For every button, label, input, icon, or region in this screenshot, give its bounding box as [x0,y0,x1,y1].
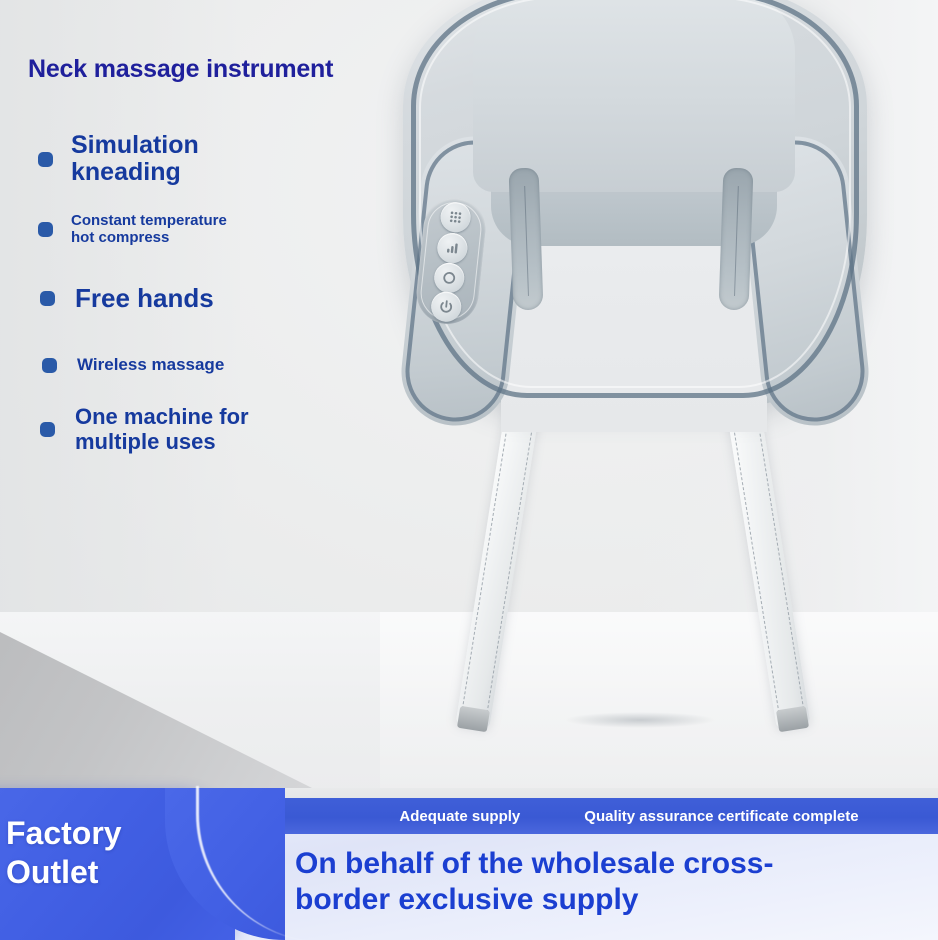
bullet-icon [40,422,55,437]
feature-item-wireless-massage: Wireless massage [42,355,224,375]
strap-stitching [461,404,511,714]
banner-headline-line-2: border exclusive supply [295,883,638,916]
product-banner-stage: Neck massage instrument Simulation knead… [0,0,938,940]
feature-line-2: multiple uses [75,429,216,454]
feature-line-1: Simulation [71,131,199,159]
tagline-adequate-supply: Adequate supply [399,808,520,825]
signal-bars-icon [444,239,462,257]
factory-outlet-label: Factory Outlet [6,814,122,892]
feature-label: Free hands [75,283,214,314]
banner-headline-line-1: On behalf of the wholesale cross- [295,847,773,880]
badge-line-1: Factory [6,815,122,851]
feature-label: Simulation kneading [71,132,199,186]
tagline-quality-assurance: Quality assurance certificate complete [584,808,858,825]
feature-item-hot-compress: Constant temperature hot compress [38,212,227,247]
feature-label: One machine for multiple uses [75,404,249,454]
strap-stitching [486,408,536,718]
page-title: Neck massage instrument [28,55,333,84]
feature-label: Constant temperature hot compress [71,212,227,247]
bottom-promo-banner: Adequate supply Quality assurance certif… [0,788,938,940]
bullet-icon [42,358,57,373]
feature-line-1: One machine for [75,404,249,429]
dots-grid-icon [447,208,465,226]
marketing-copy-column: Neck massage instrument Simulation knead… [0,0,430,520]
massager-inner-piping [419,0,851,388]
massager-strap-left [456,397,541,728]
bullet-icon [38,152,53,167]
strap-stitching [730,408,780,718]
strap-end-tip [457,706,490,732]
circle-mode-icon [440,269,458,287]
feature-line-1: Constant temperature [71,212,227,229]
bullet-icon [40,291,55,306]
feature-line-2: hot compress [71,229,169,246]
power-icon [437,298,455,316]
product-image-neck-massager [395,0,875,746]
massager-strap-right [725,397,810,728]
feature-label: Wireless massage [77,355,224,375]
feature-line-2: kneading [71,158,181,186]
strap-end-tip [776,706,809,732]
feature-item-free-hands: Free hands [40,283,214,314]
banner-headline: On behalf of the wholesale cross- border… [295,846,915,918]
feature-item-simulation-kneading: Simulation kneading [38,132,199,186]
product-drop-shadow [565,712,715,728]
strap-stitching [755,404,805,714]
badge-line-2: Outlet [6,854,98,890]
feature-item-multiple-uses: One machine for multiple uses [40,404,249,454]
massager-body [395,0,875,416]
bullet-icon [38,222,53,237]
